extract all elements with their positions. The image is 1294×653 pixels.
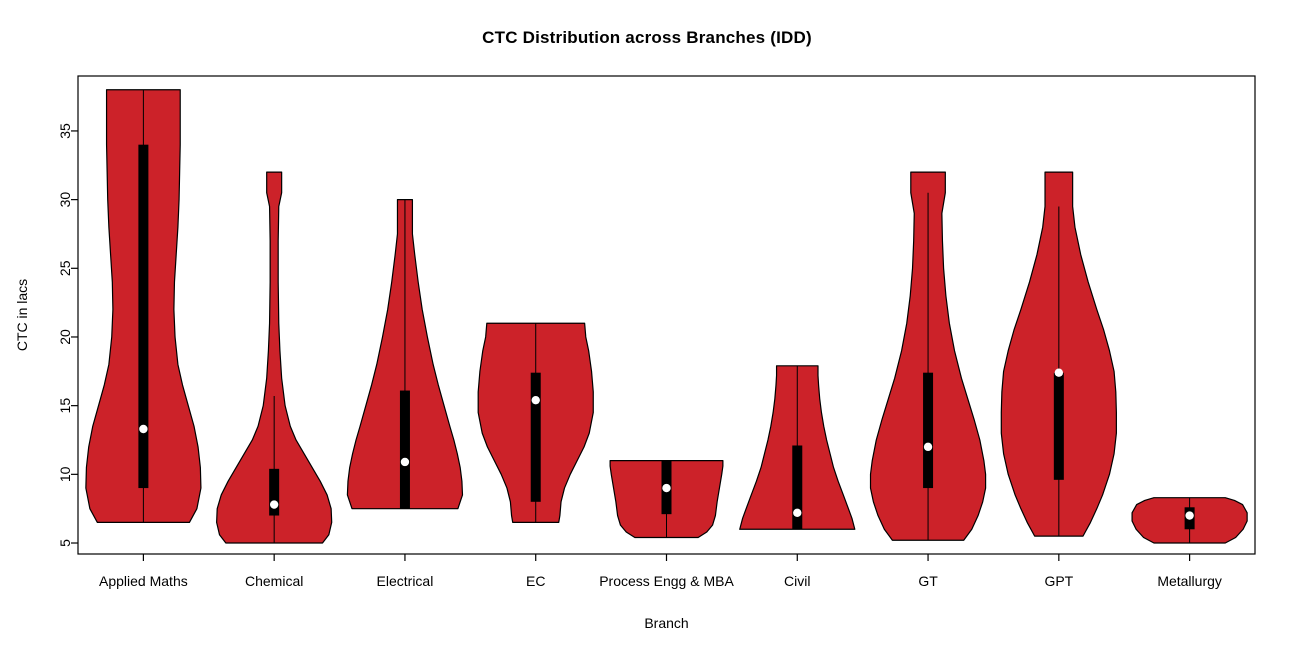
median-point bbox=[662, 484, 670, 492]
y-axis-tick-label: 25 bbox=[57, 260, 73, 276]
y-axis-tick-label: 30 bbox=[57, 192, 73, 208]
violin-group bbox=[347, 200, 462, 509]
x-axis-tick-label: Electrical bbox=[377, 573, 434, 589]
y-axis-tick-label: 20 bbox=[57, 329, 73, 345]
median-point bbox=[924, 443, 932, 451]
x-axis-tick-label: EC bbox=[526, 573, 545, 589]
iqr-box bbox=[1054, 373, 1064, 480]
violin-group bbox=[86, 90, 201, 523]
violin-group bbox=[217, 172, 332, 543]
median-point bbox=[532, 396, 540, 404]
violin-group bbox=[740, 366, 855, 529]
x-axis-tick-label: Metallurgy bbox=[1157, 573, 1222, 589]
violin-group bbox=[1001, 172, 1116, 536]
iqr-box bbox=[531, 373, 541, 502]
iqr-box bbox=[400, 391, 410, 509]
median-point bbox=[401, 458, 409, 466]
violin-group bbox=[871, 172, 986, 540]
plot-canvas: 5101520253035CTC in lacsBranchApplied Ma… bbox=[0, 0, 1294, 653]
y-axis-tick-label: 35 bbox=[57, 123, 73, 139]
y-axis-tick-label: 10 bbox=[57, 466, 73, 482]
median-point bbox=[1055, 368, 1063, 376]
x-axis-tick-label: Applied Maths bbox=[99, 573, 188, 589]
y-axis-tick-label: 5 bbox=[57, 539, 73, 547]
violin-group bbox=[1132, 498, 1247, 543]
x-axis-title: Branch bbox=[644, 615, 688, 631]
violin-plot-figure: CTC Distribution across Branches (IDD) 5… bbox=[0, 0, 1294, 653]
median-point bbox=[793, 509, 801, 517]
x-axis-tick-label: Civil bbox=[784, 573, 810, 589]
x-axis-tick-label: Chemical bbox=[245, 573, 303, 589]
median-point bbox=[139, 425, 147, 433]
median-point bbox=[1185, 511, 1193, 519]
y-axis-title: CTC in lacs bbox=[14, 279, 30, 351]
x-axis-tick-label: Process Engg & MBA bbox=[599, 573, 734, 589]
iqr-box bbox=[138, 145, 148, 488]
x-axis-tick-label: GT bbox=[918, 573, 938, 589]
iqr-box bbox=[923, 373, 933, 488]
violin-group bbox=[478, 323, 593, 522]
median-point bbox=[270, 500, 278, 508]
y-axis-tick-label: 15 bbox=[57, 398, 73, 414]
x-axis-tick-label: GPT bbox=[1044, 573, 1073, 589]
violin-group bbox=[610, 461, 723, 538]
